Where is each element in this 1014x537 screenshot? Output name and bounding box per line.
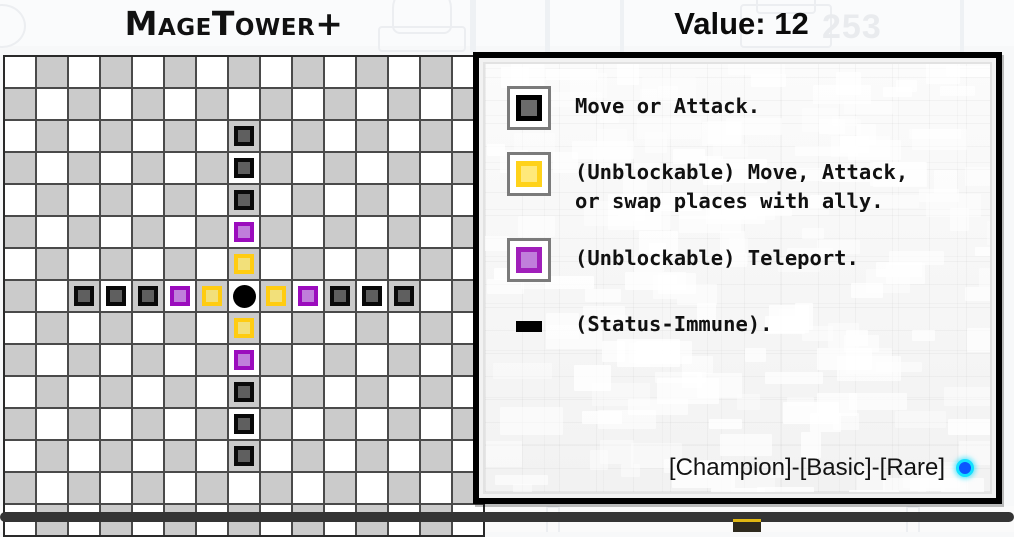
- board-cell[interactable]: [325, 313, 355, 343]
- black-dash-glyph: [516, 321, 542, 332]
- board-cell[interactable]: [293, 249, 323, 279]
- board-cell[interactable]: [325, 473, 355, 503]
- board-cell[interactable]: [37, 217, 67, 247]
- board-cell[interactable]: [197, 89, 227, 119]
- board-cell[interactable]: [37, 473, 67, 503]
- header-bar: MageTower+ Value: 12: [0, 0, 1014, 52]
- board-cell[interactable]: [389, 345, 419, 375]
- board-cell[interactable]: [421, 345, 451, 375]
- board-cell[interactable]: [357, 345, 387, 375]
- board-cell[interactable]: [293, 345, 323, 375]
- panel-texture-brick: [987, 221, 992, 245]
- panel-texture-brick: [979, 268, 992, 287]
- legend-row-label: (Status-Immune).: [575, 304, 772, 339]
- board-cell[interactable]: [293, 313, 323, 343]
- board-cell[interactable]: [133, 57, 163, 87]
- board-cell[interactable]: [165, 345, 195, 375]
- board-cell[interactable]: [421, 217, 451, 247]
- board-cell[interactable]: [229, 217, 259, 247]
- board-cell[interactable]: [325, 57, 355, 87]
- panel-texture-brick: [944, 387, 992, 406]
- rarity-dot-icon: [956, 459, 974, 477]
- board-cell[interactable]: [69, 473, 99, 503]
- board-cell[interactable]: [421, 89, 451, 119]
- board-cell[interactable]: [325, 153, 355, 183]
- board-cell[interactable]: [229, 409, 259, 439]
- board-cell[interactable]: [421, 473, 451, 503]
- board-cell[interactable]: [261, 441, 291, 471]
- rarity-breadcrumb: [Champion]-[Basic]-[Rare]: [669, 454, 945, 482]
- board-cell[interactable]: [389, 89, 419, 119]
- board-cell[interactable]: [197, 121, 227, 151]
- panel-texture-brick: [620, 493, 645, 494]
- board-cell[interactable]: [133, 217, 163, 247]
- board-cell[interactable]: [325, 185, 355, 215]
- board-cell[interactable]: [293, 409, 323, 439]
- board-cell[interactable]: [101, 377, 131, 407]
- panel-texture-brick: [500, 407, 563, 435]
- board-cell[interactable]: [101, 217, 131, 247]
- board-cell[interactable]: [389, 249, 419, 279]
- board-cell[interactable]: [389, 57, 419, 87]
- board-cell[interactable]: [325, 345, 355, 375]
- board-cell[interactable]: [389, 121, 419, 151]
- board-cell[interactable]: [69, 409, 99, 439]
- board-cell[interactable]: [165, 185, 195, 215]
- board-cell[interactable]: [101, 473, 131, 503]
- board-cell[interactable]: [261, 313, 291, 343]
- board-cell[interactable]: [229, 345, 259, 375]
- board-cell[interactable]: [165, 409, 195, 439]
- move-grid[interactable]: [3, 55, 485, 537]
- board-cell[interactable]: [69, 249, 99, 279]
- board-cell[interactable]: [5, 473, 35, 503]
- panel-texture-brick: [590, 450, 609, 470]
- legend-row: (Unblockable) Teleport.: [507, 238, 976, 282]
- board-cell[interactable]: [261, 89, 291, 119]
- board-cell[interactable]: [389, 313, 419, 343]
- board-cell[interactable]: [5, 281, 35, 311]
- panel-texture-brick: [757, 487, 814, 494]
- board-cell[interactable]: [5, 89, 35, 119]
- board-cell[interactable]: [37, 377, 67, 407]
- board-cell[interactable]: [5, 313, 35, 343]
- board-cell[interactable]: [133, 153, 163, 183]
- board-cell[interactable]: [197, 217, 227, 247]
- legend-row: Move or Attack.: [507, 86, 976, 130]
- board-cell[interactable]: [197, 473, 227, 503]
- board-cell[interactable]: [261, 217, 291, 247]
- board-cell[interactable]: [357, 313, 387, 343]
- board-cell[interactable]: [197, 377, 227, 407]
- board-cell[interactable]: [165, 89, 195, 119]
- board-cell[interactable]: [261, 121, 291, 151]
- board-cell[interactable]: [261, 377, 291, 407]
- board-cell[interactable]: [197, 345, 227, 375]
- board-cell[interactable]: [229, 441, 259, 471]
- legend-row-label: (Unblockable) Teleport.: [575, 238, 859, 273]
- board-cell[interactable]: [197, 313, 227, 343]
- board-cell[interactable]: [389, 441, 419, 471]
- board-cell[interactable]: [229, 89, 259, 119]
- board-cell[interactable]: [133, 409, 163, 439]
- panel-texture-brick: [765, 372, 823, 384]
- panel-inner: Move or Attack. (Unblockable) Move, Atta…: [483, 62, 992, 494]
- panel-texture-brick: [751, 74, 786, 87]
- dark-marker-icon[interactable]: [362, 286, 382, 306]
- purple-square-icon: [507, 238, 551, 282]
- board-cell[interactable]: [293, 217, 323, 247]
- board-cell[interactable]: [421, 57, 451, 87]
- panel-texture-brick: [598, 410, 656, 429]
- board-cell[interactable]: [69, 313, 99, 343]
- board-cell[interactable]: [421, 409, 451, 439]
- board-cell[interactable]: [357, 185, 387, 215]
- panel-texture-brick: [948, 419, 992, 435]
- board-cell[interactable]: [389, 377, 419, 407]
- legend-row-label: (Unblockable) Move, Attack, or swap plac…: [575, 152, 908, 216]
- board-container[interactable]: [3, 55, 485, 537]
- board-cell[interactable]: [37, 345, 67, 375]
- panel-texture-brick: [787, 397, 814, 406]
- board-cell[interactable]: [101, 57, 131, 87]
- bottom-bar: [0, 512, 1014, 522]
- board-cell[interactable]: [165, 217, 195, 247]
- panel-texture-brick: [486, 441, 522, 467]
- page-title: MageTower+: [0, 2, 468, 46]
- board-cell[interactable]: [133, 249, 163, 279]
- board-cell[interactable]: [5, 57, 35, 87]
- board-cell[interactable]: [293, 185, 323, 215]
- board-cell[interactable]: [69, 217, 99, 247]
- info-panel: Move or Attack. (Unblockable) Move, Atta…: [473, 52, 1002, 504]
- dark-square-icon: [507, 86, 551, 130]
- board-cell[interactable]: [293, 57, 323, 87]
- board-cell[interactable]: [133, 441, 163, 471]
- board-cell[interactable]: [197, 281, 227, 311]
- board-cell[interactable]: [357, 121, 387, 151]
- panel-texture-brick: [895, 411, 946, 428]
- purple-square-glyph: [516, 247, 542, 273]
- board-cell[interactable]: [5, 377, 35, 407]
- board-cell[interactable]: [293, 281, 323, 311]
- board-cell[interactable]: [133, 377, 163, 407]
- board-cell[interactable]: [293, 377, 323, 407]
- yellow-marker-icon[interactable]: [234, 254, 254, 274]
- panel-texture-brick: [833, 413, 859, 429]
- board-cell[interactable]: [165, 121, 195, 151]
- board-cell[interactable]: [229, 249, 259, 279]
- panel-texture-brick: [975, 247, 992, 256]
- panel-texture-brick: [990, 374, 992, 388]
- board-cell[interactable]: [197, 409, 227, 439]
- board-cell[interactable]: [357, 57, 387, 87]
- board-cell[interactable]: [5, 217, 35, 247]
- board-cell[interactable]: [229, 377, 259, 407]
- board-cell[interactable]: [69, 281, 99, 311]
- board-cell[interactable]: [293, 121, 323, 151]
- board-cell[interactable]: [197, 185, 227, 215]
- board-cell[interactable]: [389, 185, 419, 215]
- board-cell[interactable]: [261, 281, 291, 311]
- panel-texture-brick: [487, 144, 505, 156]
- board-cell[interactable]: [37, 249, 67, 279]
- board-cell[interactable]: [165, 313, 195, 343]
- board-cell[interactable]: [261, 249, 291, 279]
- board-cell[interactable]: [69, 57, 99, 87]
- board-cell[interactable]: [5, 441, 35, 471]
- board-cell[interactable]: [421, 313, 451, 343]
- panel-texture-brick: [849, 393, 907, 410]
- center-marker-icon[interactable]: [233, 285, 256, 308]
- board-cell[interactable]: [37, 281, 67, 311]
- board-cell[interactable]: [37, 441, 67, 471]
- board-cell[interactable]: [101, 153, 131, 183]
- board-cell[interactable]: [133, 89, 163, 119]
- yellow-marker-icon[interactable]: [234, 318, 254, 338]
- board-cell[interactable]: [421, 185, 451, 215]
- board-cell[interactable]: [421, 121, 451, 151]
- panel-texture-brick: [946, 66, 992, 77]
- board-cell[interactable]: [229, 473, 259, 503]
- board-cell[interactable]: [5, 409, 35, 439]
- board-cell[interactable]: [133, 345, 163, 375]
- board-cell[interactable]: [69, 153, 99, 183]
- board-cell[interactable]: [101, 185, 131, 215]
- board-cell[interactable]: [69, 89, 99, 119]
- dark-marker-icon[interactable]: [106, 286, 126, 306]
- purple-marker-icon[interactable]: [234, 222, 254, 242]
- board-cell[interactable]: [197, 153, 227, 183]
- board-cell[interactable]: [389, 217, 419, 247]
- panel-footer: [Champion]-[Basic]-[Rare]: [669, 454, 974, 482]
- board-cell[interactable]: [261, 409, 291, 439]
- board-cell[interactable]: [325, 89, 355, 119]
- board-cell[interactable]: [293, 473, 323, 503]
- panel-texture-brick: [483, 236, 509, 251]
- board-cell[interactable]: [261, 473, 291, 503]
- board-cell[interactable]: [325, 249, 355, 279]
- board-cell[interactable]: [421, 249, 451, 279]
- board-cell[interactable]: [165, 281, 195, 311]
- board-cell[interactable]: [5, 153, 35, 183]
- panel-texture-brick: [720, 434, 773, 455]
- dark-marker-icon[interactable]: [234, 414, 254, 434]
- board-cell[interactable]: [357, 153, 387, 183]
- board-cell[interactable]: [261, 153, 291, 183]
- value-readout: Value: 12: [473, 2, 1010, 46]
- board-cell[interactable]: [357, 281, 387, 311]
- board-cell[interactable]: [325, 217, 355, 247]
- board-cell[interactable]: [325, 281, 355, 311]
- dark-marker-icon[interactable]: [138, 286, 158, 306]
- board-cell[interactable]: [357, 473, 387, 503]
- dark-marker-icon[interactable]: [74, 286, 94, 306]
- board-cell[interactable]: [325, 121, 355, 151]
- board-cell[interactable]: [357, 217, 387, 247]
- yellow-square-glyph: [516, 161, 542, 187]
- board-cell[interactable]: [133, 121, 163, 151]
- board-cell[interactable]: [357, 249, 387, 279]
- board-cell[interactable]: [69, 185, 99, 215]
- board-cell[interactable]: [197, 249, 227, 279]
- board-cell[interactable]: [229, 281, 259, 311]
- board-cell[interactable]: [229, 313, 259, 343]
- black-dash-icon: [507, 304, 551, 348]
- board-cell[interactable]: [357, 377, 387, 407]
- board-cell[interactable]: [165, 249, 195, 279]
- board-cell[interactable]: [421, 153, 451, 183]
- board-cell[interactable]: [389, 153, 419, 183]
- board-cell[interactable]: [197, 57, 227, 87]
- board-cell[interactable]: [101, 313, 131, 343]
- board-cell[interactable]: [165, 473, 195, 503]
- board-cell[interactable]: [357, 89, 387, 119]
- yellow-marker-icon[interactable]: [202, 286, 222, 306]
- board-cell[interactable]: [229, 121, 259, 151]
- board-cell[interactable]: [69, 121, 99, 151]
- board-cell[interactable]: [389, 409, 419, 439]
- board-cell[interactable]: [197, 441, 227, 471]
- board-cell[interactable]: [101, 121, 131, 151]
- board-cell[interactable]: [133, 473, 163, 503]
- dark-marker-icon[interactable]: [394, 286, 414, 306]
- board-cell[interactable]: [165, 377, 195, 407]
- board-cell[interactable]: [69, 345, 99, 375]
- board-cell[interactable]: [229, 153, 259, 183]
- board-cell[interactable]: [133, 281, 163, 311]
- bottom-trinket-icon: [733, 519, 761, 532]
- board-cell[interactable]: [421, 377, 451, 407]
- board-cell[interactable]: [101, 409, 131, 439]
- board-cell[interactable]: [165, 153, 195, 183]
- board-cell[interactable]: [421, 281, 451, 311]
- board-cell[interactable]: [229, 185, 259, 215]
- panel-texture-brick: [511, 62, 546, 87]
- board-cell[interactable]: [389, 281, 419, 311]
- board-cell[interactable]: [101, 249, 131, 279]
- board-cell[interactable]: [325, 441, 355, 471]
- board-cell[interactable]: [325, 409, 355, 439]
- board-cell[interactable]: [69, 377, 99, 407]
- board-cell[interactable]: [37, 313, 67, 343]
- board-cell[interactable]: [101, 345, 131, 375]
- board-cell[interactable]: [101, 441, 131, 471]
- board-cell[interactable]: [37, 89, 67, 119]
- board-cell[interactable]: [69, 441, 99, 471]
- dark-marker-icon[interactable]: [234, 190, 254, 210]
- dark-marker-icon[interactable]: [234, 446, 254, 466]
- board-cell[interactable]: [5, 345, 35, 375]
- board-cell[interactable]: [357, 441, 387, 471]
- board-cell[interactable]: [37, 57, 67, 87]
- board-cell[interactable]: [293, 441, 323, 471]
- board-cell[interactable]: [325, 377, 355, 407]
- board-cell[interactable]: [261, 185, 291, 215]
- board-cell[interactable]: [5, 185, 35, 215]
- board-cell[interactable]: [165, 441, 195, 471]
- board-cell[interactable]: [229, 57, 259, 87]
- purple-marker-icon[interactable]: [298, 286, 318, 306]
- board-cell[interactable]: [37, 185, 67, 215]
- board-cell[interactable]: [261, 345, 291, 375]
- board-cell[interactable]: [133, 185, 163, 215]
- board-cell[interactable]: [37, 409, 67, 439]
- board-cell[interactable]: [293, 89, 323, 119]
- board-cell[interactable]: [101, 281, 131, 311]
- yellow-square-icon: [507, 152, 551, 196]
- dark-marker-icon[interactable]: [234, 158, 254, 178]
- board-cell[interactable]: [293, 153, 323, 183]
- purple-marker-icon[interactable]: [170, 286, 190, 306]
- board-cell[interactable]: [421, 441, 451, 471]
- dark-square-glyph: [516, 95, 542, 121]
- legend-row-label: Move or Attack.: [575, 86, 760, 121]
- legend-row: (Unblockable) Move, Attack, or swap plac…: [507, 152, 976, 216]
- panel-texture-brick: [617, 62, 639, 85]
- dark-marker-icon[interactable]: [330, 286, 350, 306]
- legend-row: (Status-Immune).: [507, 304, 976, 348]
- board-cell[interactable]: [165, 57, 195, 87]
- panel-texture-brick: [709, 419, 742, 429]
- dark-marker-icon[interactable]: [234, 382, 254, 402]
- board-cell[interactable]: [389, 473, 419, 503]
- board-cell[interactable]: [357, 409, 387, 439]
- board-cell[interactable]: [133, 313, 163, 343]
- purple-marker-icon[interactable]: [234, 350, 254, 370]
- board-cell[interactable]: [101, 89, 131, 119]
- board-cell[interactable]: [261, 57, 291, 87]
- board-cell[interactable]: [37, 153, 67, 183]
- board-cell[interactable]: [37, 121, 67, 151]
- yellow-marker-icon[interactable]: [266, 286, 286, 306]
- board-cell[interactable]: [5, 249, 35, 279]
- panel-texture-brick: [513, 484, 532, 494]
- board-cell[interactable]: [5, 121, 35, 151]
- legend-list: Move or Attack. (Unblockable) Move, Atta…: [507, 86, 976, 370]
- dark-marker-icon[interactable]: [234, 126, 254, 146]
